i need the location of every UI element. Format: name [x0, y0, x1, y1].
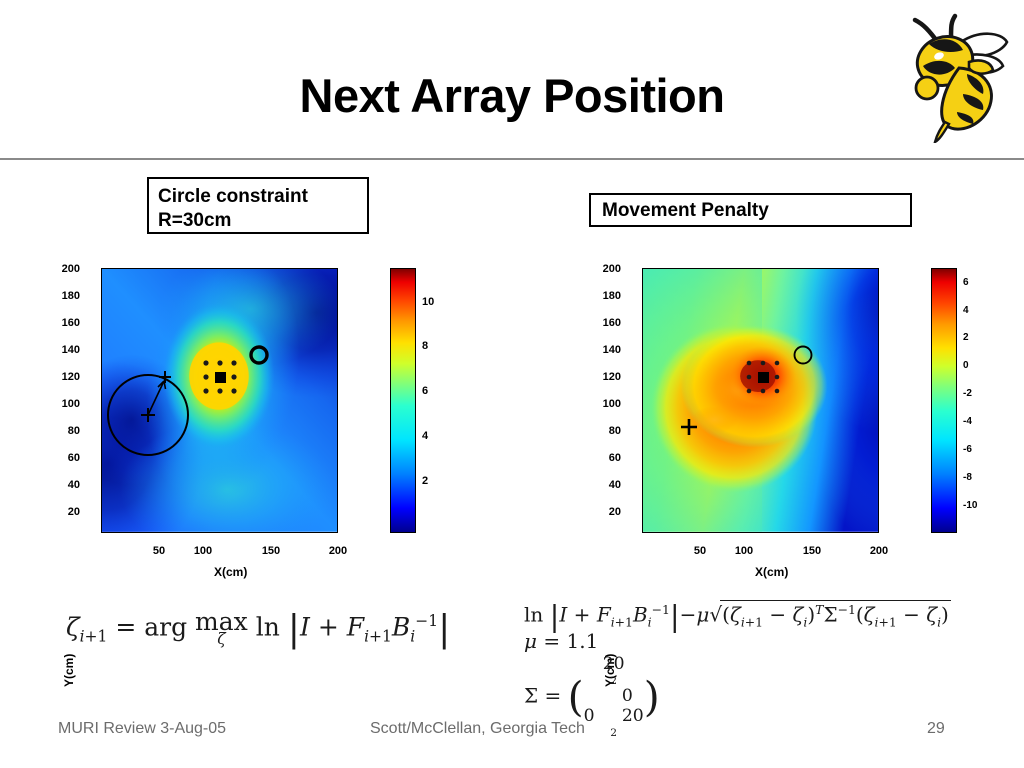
- left-ytick-100: 100: [48, 398, 80, 410]
- right-cbtick-m6: -6: [963, 444, 972, 455]
- right-xtick-200: 200: [861, 545, 897, 557]
- left-cbtick-2: 2: [422, 475, 428, 487]
- right-cbtick-m2: -2: [963, 388, 972, 399]
- right-ytick-20: 20: [589, 506, 621, 518]
- left-colorbar: [390, 268, 416, 533]
- left-source-circle-marker: [102, 269, 338, 533]
- caption-circle-constraint: Circle constraint R=30cm: [147, 177, 369, 234]
- right-cbtick-4: 4: [963, 305, 969, 316]
- equation-right-objective: ln |I + Fi+1Bi−1|−μ√(ζi+1 − ζi)TΣ−1(ζi+1…: [524, 600, 951, 630]
- right-source-circle-marker: [643, 269, 879, 533]
- page-title: Next Array Position: [0, 72, 1024, 119]
- caption-movement-penalty: Movement Penalty: [589, 193, 912, 227]
- left-ytick-80: 80: [48, 425, 80, 437]
- right-ytick-120: 120: [589, 371, 621, 383]
- left-ytick-mark: [101, 268, 106, 269]
- left-ytick-40: 40: [48, 479, 80, 491]
- left-cbtick-8: 8: [422, 340, 428, 352]
- left-ytick-160: 160: [48, 317, 80, 329]
- equation-left: ζi+1 = arg maxζ ln |I + Fi+1Bi−1|: [66, 612, 450, 645]
- left-cbtick-10: 10: [422, 296, 434, 308]
- right-ytick-80: 80: [589, 425, 621, 437]
- right-ytick-160: 160: [589, 317, 621, 329]
- right-ytick-60: 60: [589, 452, 621, 464]
- right-ytick-140: 140: [589, 344, 621, 356]
- left-ytick-20: 20: [48, 506, 80, 518]
- left-cbtick-6: 6: [422, 385, 428, 397]
- right-ytick-100: 100: [589, 398, 621, 410]
- right-cbtick-m8: -8: [963, 472, 972, 483]
- right-colorbar: [931, 268, 957, 533]
- title-divider: [0, 158, 1024, 160]
- right-cbtick-m4: -4: [963, 416, 972, 427]
- left-xtick-50: 50: [144, 545, 174, 557]
- left-xtick-200: 200: [320, 545, 356, 557]
- left-ytick-200: 200: [48, 263, 80, 275]
- right-ytick-200: 200: [589, 263, 621, 275]
- footer-center: Scott/McClellan, Georgia Tech: [370, 720, 585, 738]
- left-xtick-100: 100: [185, 545, 221, 557]
- right-xtick-100: 100: [726, 545, 762, 557]
- right-cbtick-2: 2: [963, 332, 969, 343]
- right-x-axis-title: X(cm): [755, 565, 788, 579]
- left-y-axis-title: Y(cm): [62, 654, 76, 687]
- right-cbtick-m10: -10: [963, 500, 977, 511]
- left-x-axis-title: X(cm): [214, 565, 247, 579]
- right-xtick-50: 50: [685, 545, 715, 557]
- equation-right-mu: μ = 1.1: [524, 629, 598, 653]
- caption-left-line2: R=30cm: [158, 209, 367, 233]
- right-xtick-150: 150: [794, 545, 830, 557]
- right-cbtick-6: 6: [963, 277, 969, 288]
- left-ytick-180: 180: [48, 290, 80, 302]
- right-ytick-40: 40: [589, 479, 621, 491]
- footer-left: MURI Review 3-Aug-05: [58, 720, 226, 738]
- slide-root: Next Array Position Circle constraint R=…: [0, 0, 1024, 768]
- left-ytick-60: 60: [48, 452, 80, 464]
- left-ytick-140: 140: [48, 344, 80, 356]
- caption-left-line1: Circle constraint: [158, 185, 367, 209]
- footer-page-number: 29: [927, 720, 945, 738]
- left-ytick-120: 120: [48, 371, 80, 383]
- left-xtick-150: 150: [253, 545, 289, 557]
- figure-circle-constraint: Y(cm) 200 180 160 140 120 100 80 60 40 2…: [0, 255, 470, 585]
- right-ytick-180: 180: [589, 290, 621, 302]
- left-plot-area[interactable]: [101, 268, 338, 533]
- right-plot-area[interactable]: [642, 268, 879, 533]
- right-cbtick-0: 0: [963, 360, 969, 371]
- left-cbtick-4: 4: [422, 430, 428, 442]
- figure-movement-penalty: Y(cm) 200 180 160 140 120 100 80 60 40 2…: [545, 255, 1015, 585]
